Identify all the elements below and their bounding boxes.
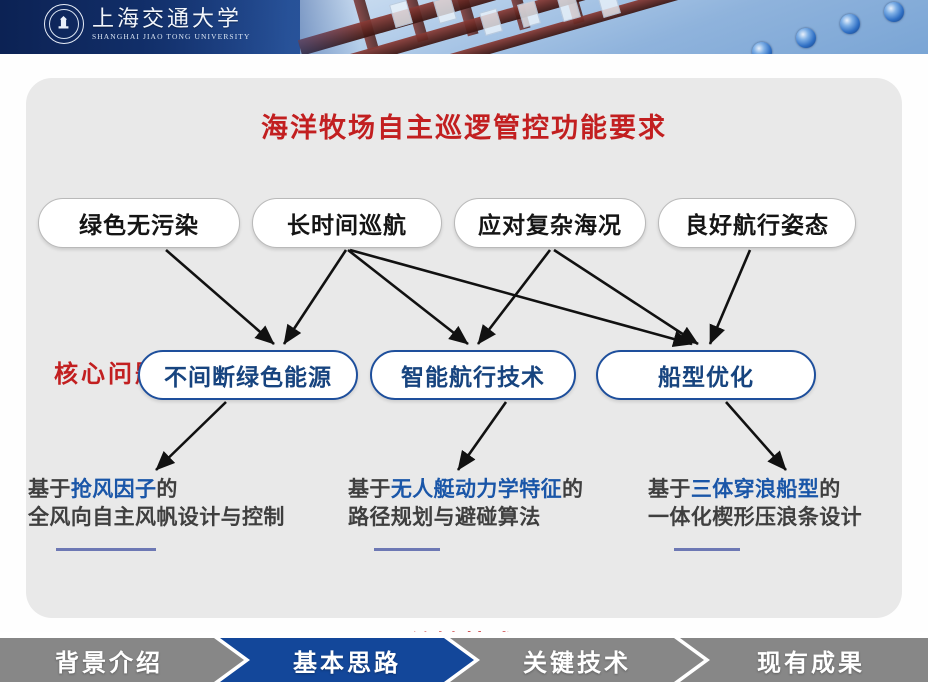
technology-line-1: 基于抢风因子的 [28, 476, 285, 504]
nav-step-key-technology[interactable]: 关键技术 [450, 638, 704, 682]
core-problem-box-label: 船型优化 [658, 358, 754, 392]
tech-prefix: 基于 [348, 477, 391, 501]
nav-step-results[interactable]: 现有成果 [680, 638, 928, 682]
connector-arrows [26, 78, 902, 618]
core-problem-box-label: 智能航行技术 [401, 358, 545, 392]
tech-suffix: 的 [562, 477, 583, 501]
arrow-req4-to-core3 [710, 250, 750, 344]
tech-suffix: 的 [819, 477, 840, 501]
nav-step-label: 关键技术 [523, 643, 631, 678]
technology-line-1: 基于三体穿浪船型的 [648, 476, 862, 504]
arrow-req3-to-core3 [554, 250, 698, 344]
nav-step-label: 背景介绍 [55, 643, 163, 678]
tech-highlight: 抢风因子 [71, 477, 157, 501]
tech-suffix: 的 [156, 477, 177, 501]
technology-text-2: 基于无人艇动力学特征的 路径规划与避碰算法 [348, 476, 583, 531]
nav-step-background[interactable]: 背景介绍 [0, 638, 244, 682]
university-name-en: SHANGHAI JIAO TONG UNIVERSITY [92, 32, 251, 41]
core-problem-box-2[interactable]: 智能航行技术 [370, 350, 576, 400]
arrow-core2-to-tech2 [458, 402, 506, 470]
slide-body: 海洋牧场自主巡逻管控功能要求 绿色无污染 长时间巡航 应对复杂海况 良好航行姿态… [0, 54, 928, 632]
tech-prefix: 基于 [28, 477, 71, 501]
technology-line-2: 一体化楔形压浪条设计 [648, 504, 862, 532]
tech-highlight: 三体穿浪船型 [691, 477, 819, 501]
arrow-core1-to-tech1 [156, 402, 226, 470]
core-problem-box-label: 不间断绿色能源 [164, 358, 332, 392]
footer-navigation: 背景介绍 基本思路 关键技术 现有成果 [0, 632, 928, 688]
requirement-label: 应对复杂海况 [478, 206, 622, 240]
technology-underline-1 [56, 548, 156, 551]
arrow-req2-to-core2 [348, 250, 468, 344]
requirement-box-3[interactable]: 应对复杂海况 [454, 198, 646, 248]
technology-line-2: 路径规划与避碰算法 [348, 504, 583, 532]
nav-step-label: 基本思路 [293, 643, 401, 678]
technology-line-1: 基于无人艇动力学特征的 [348, 476, 583, 504]
university-name-cn: 上海交通大学 [92, 7, 251, 30]
nav-step-basic-approach[interactable]: 基本思路 [220, 638, 474, 682]
university-logo: 上海交通大学 SHANGHAI JIAO TONG UNIVERSITY [44, 4, 251, 44]
requirement-label: 绿色无污染 [79, 206, 199, 240]
tech-highlight: 无人艇动力学特征 [391, 477, 562, 501]
page-title: 海洋牧场自主巡逻管控功能要求 [26, 106, 902, 145]
flow-diagram: 海洋牧场自主巡逻管控功能要求 绿色无污染 长时间巡航 应对复杂海况 良好航行姿态… [26, 78, 902, 618]
requirement-label: 良好航行姿态 [685, 206, 829, 240]
requirement-label: 长时间巡航 [287, 206, 407, 240]
arrow-req2-to-core1 [284, 250, 346, 344]
technology-line-2: 全风向自主风帆设计与控制 [28, 504, 285, 532]
diagram-card: 海洋牧场自主巡逻管控功能要求 绿色无污染 长时间巡航 应对复杂海况 良好航行姿态… [26, 78, 902, 618]
technology-text-1: 基于抢风因子的 全风向自主风帆设计与控制 [28, 476, 285, 531]
nav-step-label: 现有成果 [757, 643, 865, 678]
core-problem-box-3[interactable]: 船型优化 [596, 350, 816, 400]
technology-underline-3 [674, 548, 740, 551]
arrow-req3-to-core2 [478, 250, 550, 344]
technology-underline-2 [374, 548, 440, 551]
roof-ornament [796, 28, 816, 48]
core-problem-box-1[interactable]: 不间断绿色能源 [138, 350, 358, 400]
university-seal-icon [44, 4, 84, 44]
requirement-box-4[interactable]: 良好航行姿态 [658, 198, 856, 248]
arrow-core3-to-tech3 [726, 402, 786, 470]
arrow-req2-to-core3 [350, 250, 692, 344]
technology-text-3: 基于三体穿浪船型的 一体化楔形压浪条设计 [648, 476, 862, 531]
requirement-box-1[interactable]: 绿色无污染 [38, 198, 240, 248]
page-header: 上海交通大学 SHANGHAI JIAO TONG UNIVERSITY [0, 0, 928, 54]
roof-ornament [840, 14, 860, 34]
requirement-box-2[interactable]: 长时间巡航 [252, 198, 442, 248]
tech-prefix: 基于 [648, 477, 691, 501]
arrow-req1-to-core1 [166, 250, 274, 344]
roof-ornament [884, 2, 904, 22]
